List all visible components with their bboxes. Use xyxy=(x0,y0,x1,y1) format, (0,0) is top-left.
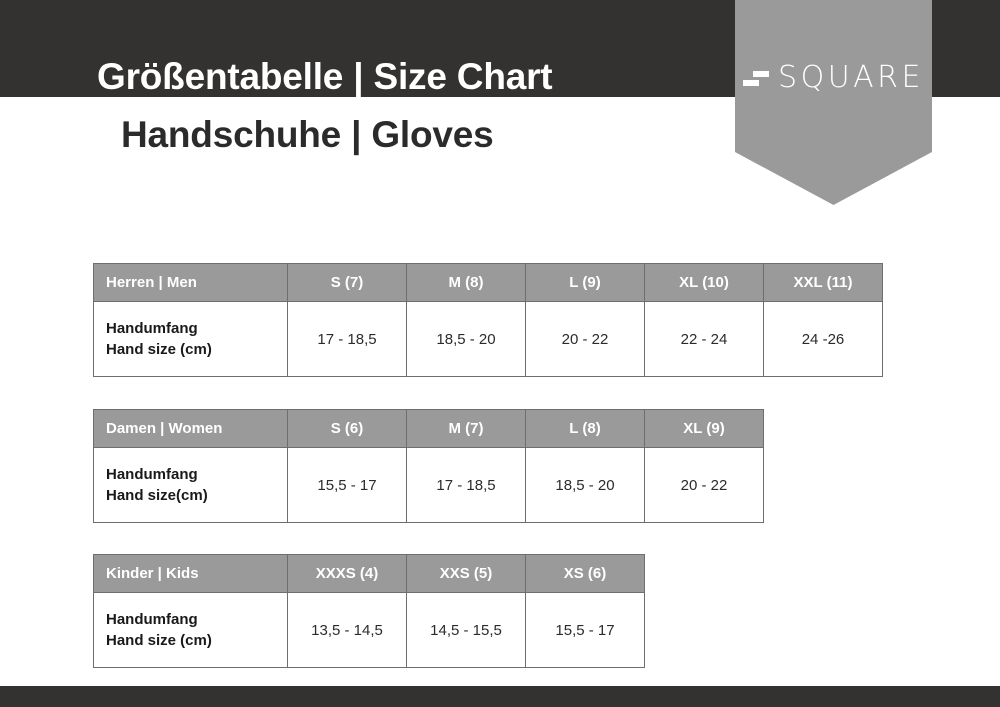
brand-ribbon: SQUARE xyxy=(735,0,932,206)
size-header: XXXS (4) xyxy=(288,555,407,593)
size-header: M (7) xyxy=(407,410,526,448)
group-label-men: Herren | Men xyxy=(94,264,288,302)
row-label-line-1: Handumfang xyxy=(106,464,287,485)
row-label-line-1: Handumfang xyxy=(106,318,287,339)
ribbon-pennant-shape xyxy=(735,0,932,206)
size-table-women: Damen | Women S (6) M (7) L (8) XL (9) H… xyxy=(93,409,764,523)
group-label-women: Damen | Women xyxy=(94,410,288,448)
table-row: Handumfang Hand size(cm) 15,5 - 17 17 - … xyxy=(94,448,764,523)
row-label-men: Handumfang Hand size (cm) xyxy=(94,302,288,377)
hand-size-value: 18,5 - 20 xyxy=(407,302,526,377)
size-table-men: Herren | Men S (7) M (8) L (9) XL (10) X… xyxy=(93,263,883,377)
footer-band xyxy=(0,686,1000,707)
hand-size-value: 24 -26 xyxy=(764,302,883,377)
size-header: XL (9) xyxy=(645,410,764,448)
row-label-line-1: Handumfang xyxy=(106,609,287,630)
row-label-line-2: Hand size (cm) xyxy=(106,630,287,651)
size-header: S (7) xyxy=(288,264,407,302)
hand-size-value: 18,5 - 20 xyxy=(526,448,645,523)
size-header: L (9) xyxy=(526,264,645,302)
page-title-primary: Größentabelle | Size Chart xyxy=(97,55,552,99)
table-row: Handumfang Hand size (cm) 13,5 - 14,5 14… xyxy=(94,593,645,668)
size-header: XXL (11) xyxy=(764,264,883,302)
size-header: XXS (5) xyxy=(407,555,526,593)
size-chart-page: Größentabelle | Size Chart Handschuhe | … xyxy=(0,0,1000,707)
table-header-row: Kinder | Kids XXXS (4) XXS (5) XS (6) xyxy=(94,555,645,593)
hand-size-value: 13,5 - 14,5 xyxy=(288,593,407,668)
hand-size-value: 20 - 22 xyxy=(645,448,764,523)
two-offset-bars-icon xyxy=(743,68,769,88)
size-table-kids: Kinder | Kids XXXS (4) XXS (5) XS (6) Ha… xyxy=(93,554,645,668)
size-header: XS (6) xyxy=(526,555,645,593)
table-header-row: Damen | Women S (6) M (7) L (8) XL (9) xyxy=(94,410,764,448)
brand-logo: SQUARE xyxy=(735,58,932,98)
table-row: Handumfang Hand size (cm) 17 - 18,5 18,5… xyxy=(94,302,883,377)
hand-size-value: 20 - 22 xyxy=(526,302,645,377)
hand-size-value: 15,5 - 17 xyxy=(288,448,407,523)
table-header-row: Herren | Men S (7) M (8) L (9) XL (10) X… xyxy=(94,264,883,302)
hand-size-value: 17 - 18,5 xyxy=(407,448,526,523)
hand-size-value: 15,5 - 17 xyxy=(526,593,645,668)
row-label-kids: Handumfang Hand size (cm) xyxy=(94,593,288,668)
size-header: M (8) xyxy=(407,264,526,302)
hand-size-value: 22 - 24 xyxy=(645,302,764,377)
hand-size-value: 14,5 - 15,5 xyxy=(407,593,526,668)
hand-size-value: 17 - 18,5 xyxy=(288,302,407,377)
size-header: S (6) xyxy=(288,410,407,448)
size-header: L (8) xyxy=(526,410,645,448)
row-label-line-2: Hand size(cm) xyxy=(106,485,287,506)
group-label-kids: Kinder | Kids xyxy=(94,555,288,593)
page-title-secondary: Handschuhe | Gloves xyxy=(121,113,494,157)
size-header: XL (10) xyxy=(645,264,764,302)
brand-logo-text: SQUARE xyxy=(778,63,924,93)
row-label-women: Handumfang Hand size(cm) xyxy=(94,448,288,523)
row-label-line-2: Hand size (cm) xyxy=(106,339,287,360)
